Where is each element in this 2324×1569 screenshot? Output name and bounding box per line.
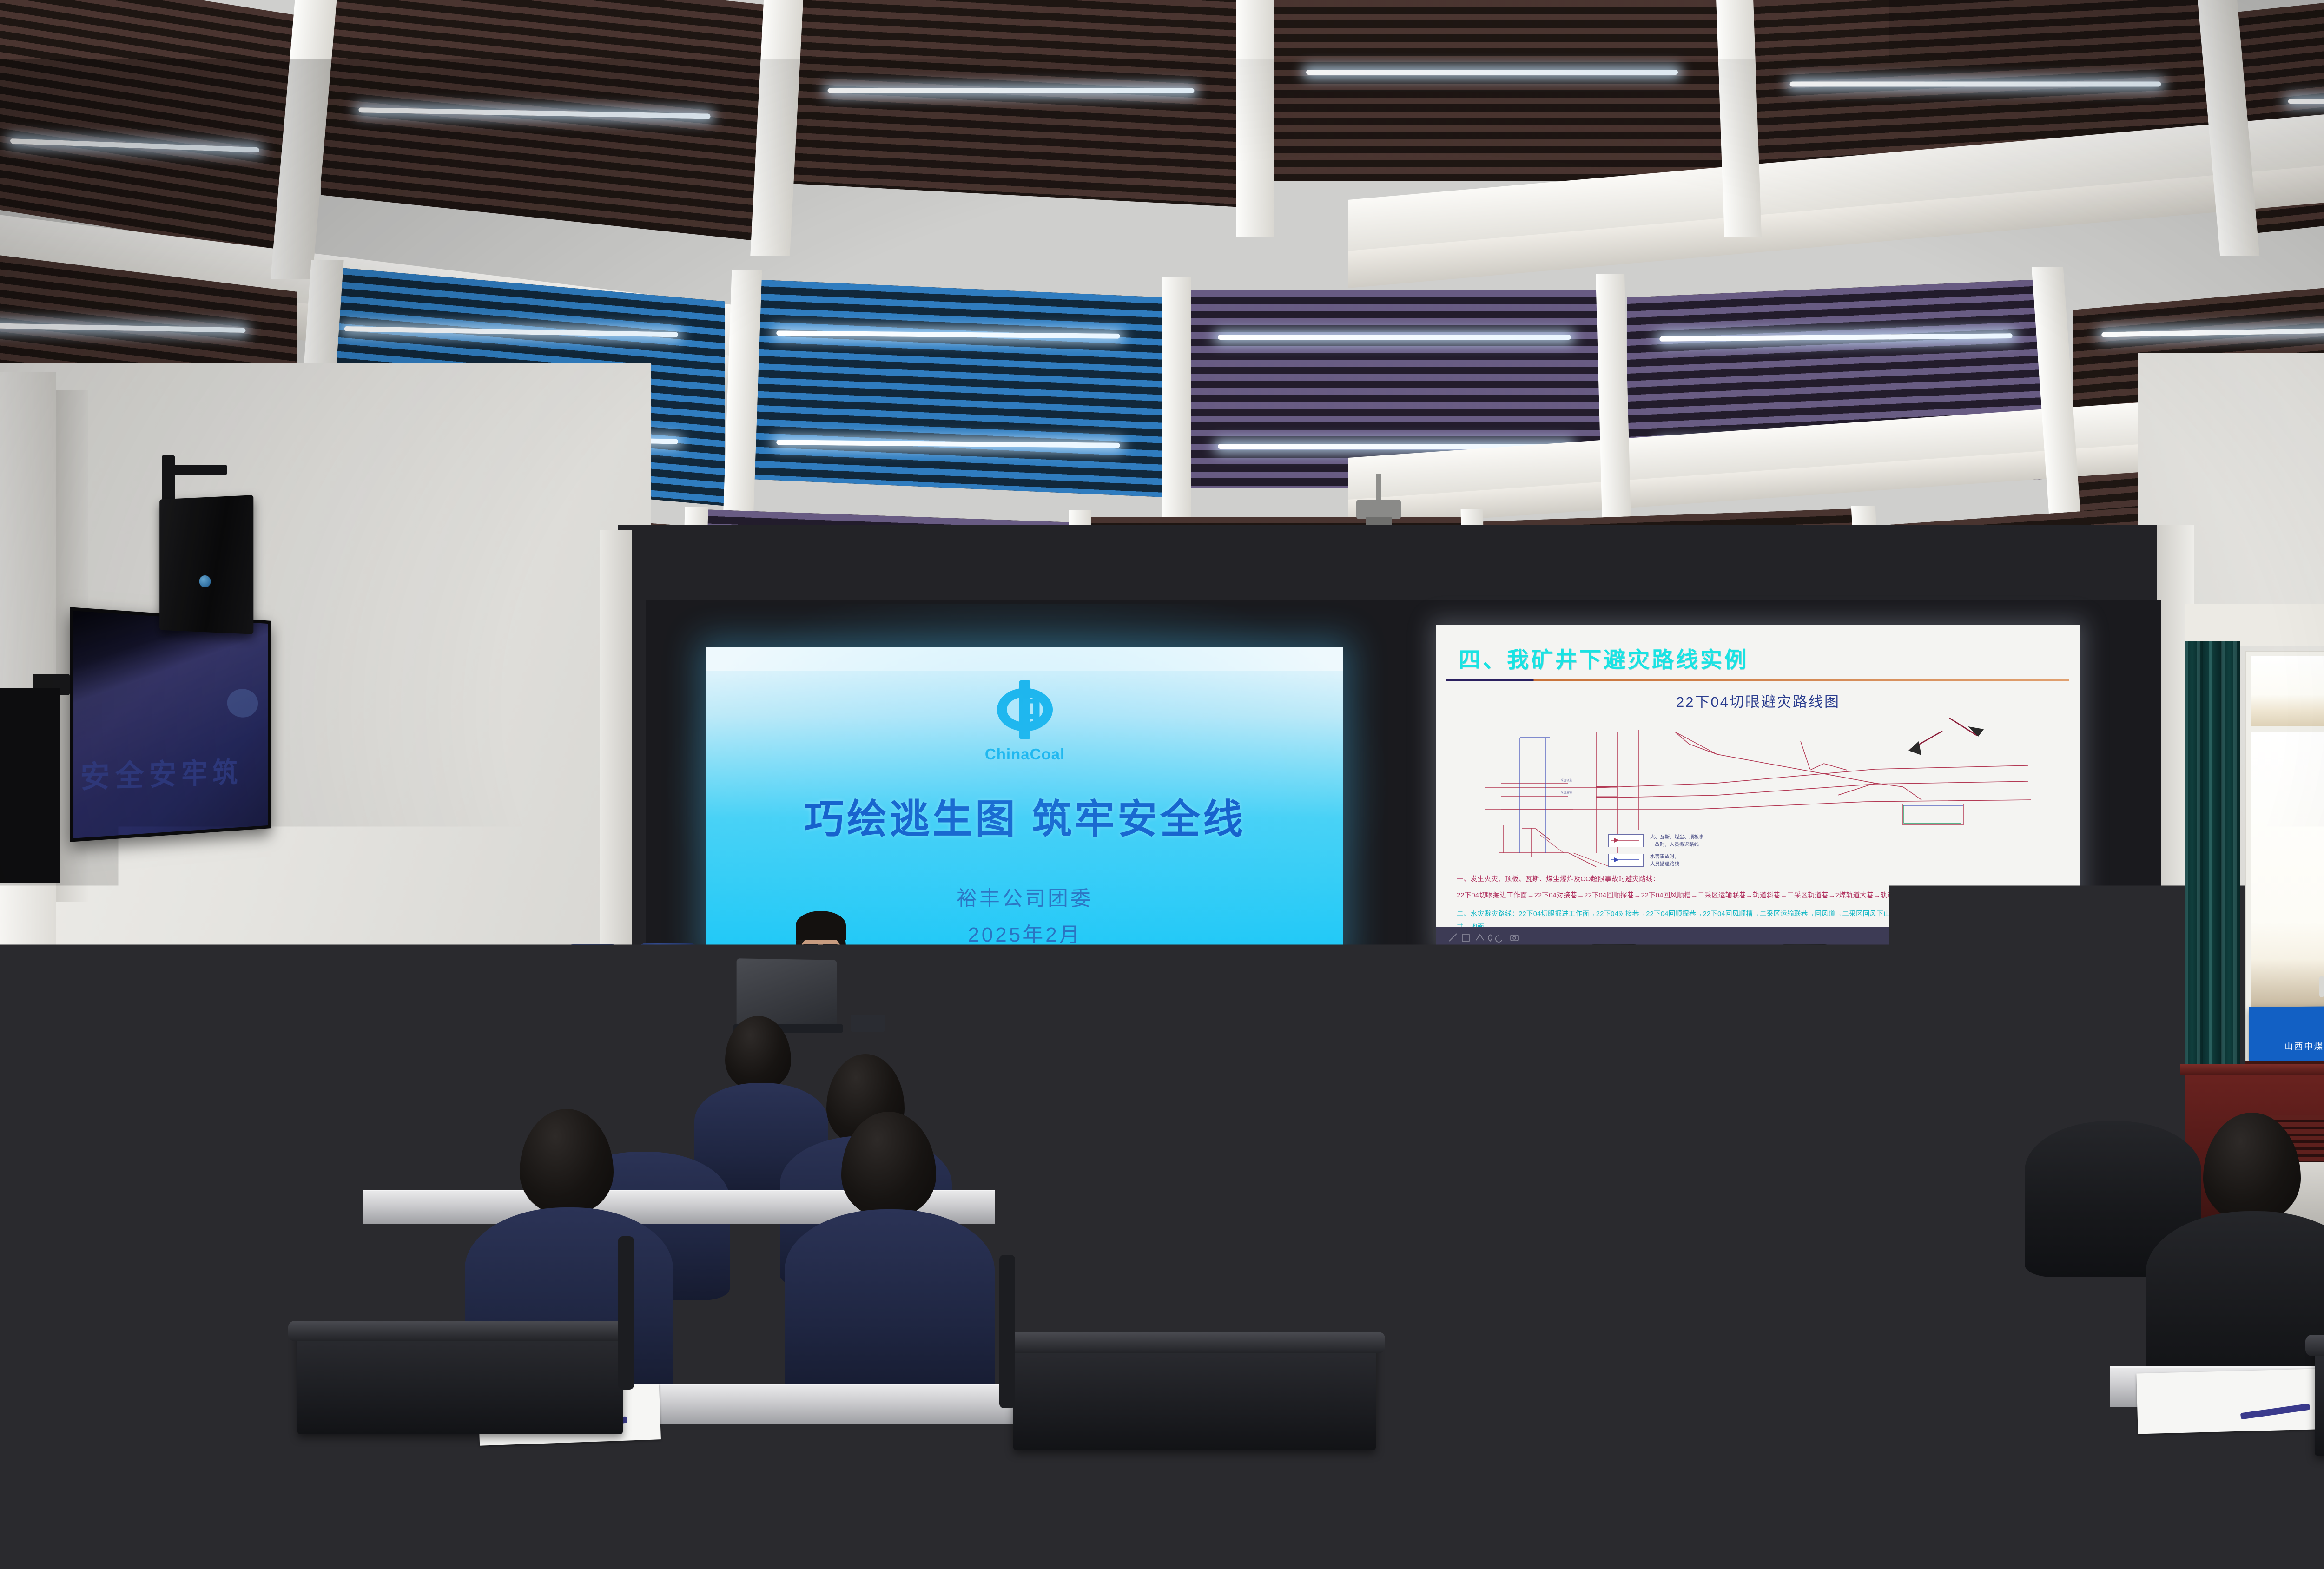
seat-back xyxy=(1590,1348,1961,1464)
slide-heading: 四、我矿井下避灾路线实例 xyxy=(1459,642,1749,674)
front-desk-surface xyxy=(0,1510,2324,1569)
slide-toolbar-icons[interactable] xyxy=(1446,932,1534,944)
ceiling-coffer xyxy=(744,279,1162,497)
diagram-legend: 火、瓦斯、煤尘、顶板事 故时，人员撤退路线 水害事故时， 人员撤退路线 xyxy=(1608,833,1704,868)
glasses-icon xyxy=(802,944,819,956)
window-handle[interactable] xyxy=(2319,976,2324,997)
stage-vent-badge xyxy=(1910,1013,1948,1022)
chinacoal-mark-icon xyxy=(990,675,1060,745)
legend-text-water-1: 水害事故时， xyxy=(1650,853,1679,860)
chair-frame xyxy=(999,1255,1015,1408)
ceiling-coffer xyxy=(321,0,767,242)
seat-back xyxy=(297,1327,623,1434)
chinacoal-wordmark: ChinaCoal xyxy=(985,745,1065,763)
microphone-base xyxy=(272,982,313,997)
company-sign: ChinaCoal 山西中煤华利裕丰煤业有限公司 xyxy=(2249,1005,2324,1063)
legend-text-fire-2: 故时，人员撤退路线 xyxy=(1650,841,1704,848)
seat-rail xyxy=(1004,1332,1385,1353)
ceiling-coffer xyxy=(0,0,302,258)
tissue-box xyxy=(232,1176,339,1220)
seat-rail xyxy=(288,1321,632,1341)
desk-device xyxy=(851,1015,885,1032)
route-note-2-label: 二、水灾避灾路线： xyxy=(1457,910,1519,918)
right-cabinetry-top xyxy=(2180,1064,2324,1075)
route-note-1-label: 一、发生火灾、顶板、瓦斯、煤尘爆炸及CO超限事故时避灾路线： xyxy=(1457,873,2061,886)
route-notes: 一、发生火灾、顶板、瓦斯、煤尘爆炸及CO超限事故时避灾路线： 22下04切眼掘进… xyxy=(1457,873,2061,934)
ceiling-coffer xyxy=(786,0,1241,207)
legend-text-fire-1: 火、瓦斯、煤尘、顶板事 xyxy=(1650,833,1704,841)
route-note-1-path: 22下04切眼掘进工作面→22下04对接巷→22下04回顺探巷→22下04回风顺… xyxy=(1457,890,2061,903)
stage-vent-badge xyxy=(1548,1013,1585,1022)
tv-mount-arm xyxy=(0,688,60,883)
speaker-badge-icon xyxy=(199,575,211,587)
svg-text:·: · xyxy=(1657,778,1657,781)
projection-screen-left[interactable]: ChinaCoal 巧绘逃生图 筑牢安全线 裕丰公司团委 2025年2月 xyxy=(706,647,1343,958)
stage-chair xyxy=(1313,947,1378,1077)
desk-item xyxy=(199,997,223,1008)
svg-text:二采区轨道: 二采区轨道 xyxy=(1558,778,1572,782)
chair-frame xyxy=(260,1218,277,1376)
slide-title: 巧绘逃生图 筑牢安全线 xyxy=(804,786,1246,844)
seat-back xyxy=(2315,1341,2324,1456)
sign-company-name: 山西中煤华利裕丰煤业有限公司 xyxy=(2284,1040,2324,1053)
projector xyxy=(1356,500,1401,519)
curtain-left xyxy=(2185,641,2240,1074)
chinacoal-logo: ChinaCoal xyxy=(990,675,1060,745)
auditorium-photo: ChinaCoal 巧绘逃生图 筑牢安全线 裕丰公司团委 2025年2月 四、我… xyxy=(0,0,2324,1569)
desk-notes xyxy=(148,997,198,1008)
uniform-badge xyxy=(856,998,865,1008)
ceiling-coffer xyxy=(1260,0,1724,181)
speaker-left xyxy=(159,495,253,634)
slide-date: 2025年2月 xyxy=(968,918,1082,948)
stage-vent-badge xyxy=(1018,1013,1055,1022)
projection-screen-right[interactable]: 四、我矿井下避灾路线实例 22下04切眼避灾路线图 xyxy=(1436,625,2080,950)
tv-ghost-text: 安全安牢筑 xyxy=(80,750,243,797)
slide-subheading: 22下04切眼避灾路线图 xyxy=(1676,690,1840,711)
notepad xyxy=(2136,1369,2324,1434)
left-wall-tv[interactable]: 安全安牢筑 xyxy=(70,607,271,842)
speaker-mount-arm xyxy=(162,465,227,475)
projector-rod xyxy=(1376,474,1381,502)
window-header xyxy=(2185,604,2324,646)
slide-page-number: 13 xyxy=(2036,931,2046,942)
desk-tray xyxy=(106,985,135,1005)
chair-frame xyxy=(618,1236,634,1390)
legend-swatch-water-icon xyxy=(1608,854,1644,867)
microphone-grip xyxy=(246,969,271,981)
slide-org: 裕丰公司团委 xyxy=(957,882,1093,911)
glasses-icon xyxy=(153,1255,188,1282)
legend-text-water-2: 人员撤退路线 xyxy=(1650,860,1679,868)
seat-rail xyxy=(2305,1335,2324,1356)
svg-text:二采区运输: 二采区运输 xyxy=(1558,791,1572,794)
stage-chair xyxy=(558,944,627,1098)
stage-chair xyxy=(408,948,478,1101)
microphone-base xyxy=(314,980,352,995)
mine-route-diagram: 二采区轨道 二采区运输 · xyxy=(1457,713,2061,867)
seat-back xyxy=(1013,1338,1376,1450)
cabinet-vent xyxy=(181,1074,335,1153)
legend-swatch-fire-icon xyxy=(1608,834,1644,847)
seat-rail xyxy=(1580,1341,1971,1363)
uniform-badge xyxy=(842,995,852,1005)
glasses-icon xyxy=(822,944,838,956)
wall-pillar xyxy=(600,530,632,999)
